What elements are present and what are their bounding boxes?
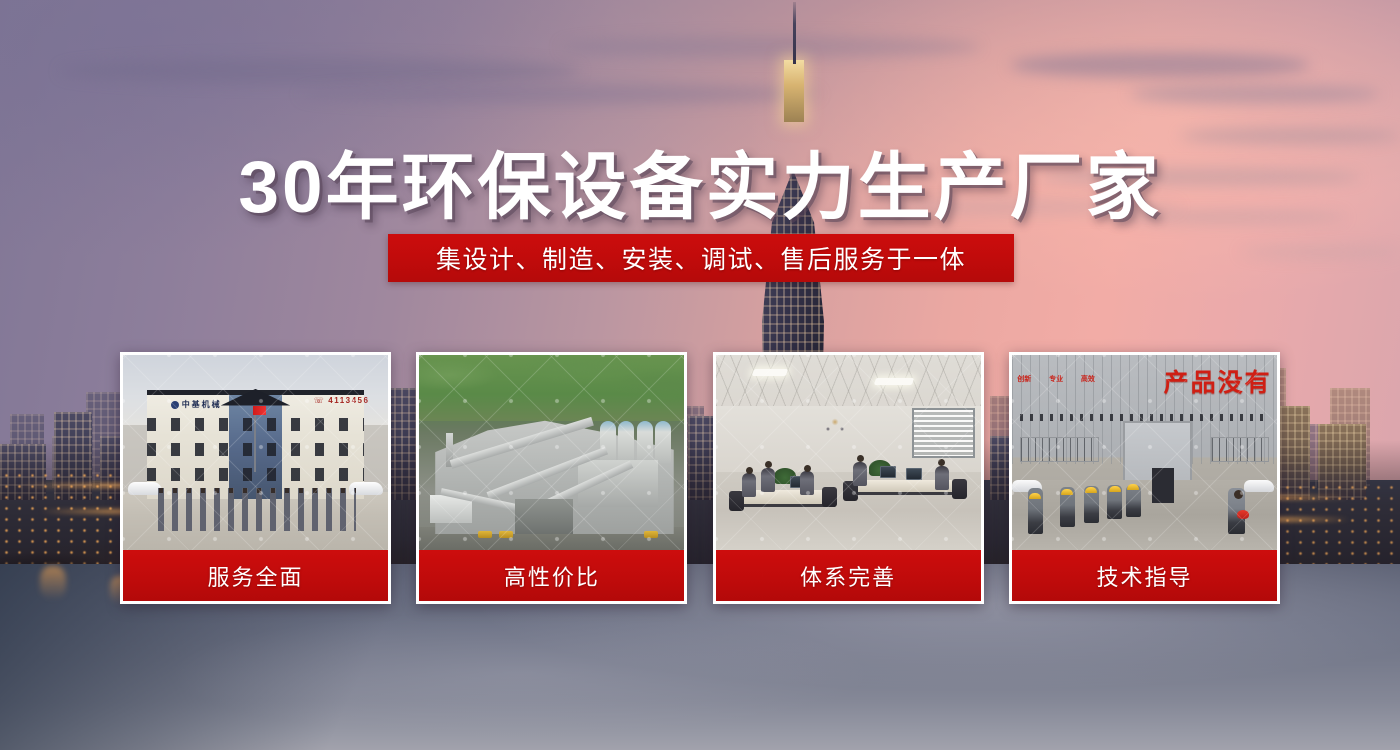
feature-card-caption: 体系完善: [800, 560, 896, 592]
feature-card-caption-bar: 体系完善: [713, 550, 984, 604]
hero-banner: 30年环保设备实力生产厂家 集设计、制造、安装、调试、售后服务于一体 中基机械: [0, 0, 1400, 750]
ceiling-light-icon: [874, 378, 914, 385]
hard-hat-icon: [1061, 489, 1073, 495]
factory-slogan-small-2: 专业: [1049, 375, 1063, 384]
feature-card-caption-bar: 服务全面: [120, 550, 391, 604]
hard-hat-icon: [1127, 484, 1139, 490]
building-phone-text: 4113456: [328, 396, 369, 405]
phone-icon: ☏: [314, 396, 326, 405]
feature-card-caption-bar: 高性价比: [416, 550, 687, 604]
building-sign: 中基机械: [171, 396, 261, 414]
feature-card-system[interactable]: 体系完善: [713, 352, 984, 604]
red-hard-hat-icon: [1237, 510, 1249, 519]
tower-crown-light: [784, 60, 804, 122]
company-logo-icon: [171, 401, 179, 409]
feature-card-caption: 服务全面: [207, 560, 303, 592]
flag-icon: [253, 406, 266, 415]
industrial-plant-aerial-photo: [416, 352, 687, 550]
feature-card-service[interactable]: 中基机械 ☏ 4113456 服务全面: [120, 352, 391, 604]
wall-decal-icon: [822, 414, 848, 436]
hard-hat-icon: [1029, 493, 1041, 499]
feature-card-caption: 高性价比: [504, 560, 600, 592]
factory-workers-photo: 创新 专业 高效 产品没有: [1009, 352, 1280, 550]
company-headquarters-photo: 中基机械 ☏ 4113456: [120, 352, 391, 550]
banner-subtitle-bar: 集设计、制造、安装、调试、售后服务于一体: [388, 234, 1014, 282]
factory-slogan-small-3: 高效: [1081, 375, 1095, 384]
building-phone: ☏ 4113456: [314, 396, 370, 405]
office-interior-photo: [713, 352, 984, 550]
banner-subtitle-text: 集设计、制造、安装、调试、售后服务于一体: [436, 240, 966, 276]
hard-hat-icon: [1109, 486, 1121, 492]
ceiling-light-icon: [752, 369, 788, 376]
factory-slogan-text: 产品没有: [1164, 363, 1272, 399]
banner-headline: 30年环保设备实力生产厂家: [0, 128, 1400, 234]
tower-antenna: [793, 2, 796, 64]
feature-card-caption-bar: 技术指导: [1009, 550, 1280, 604]
hard-hat-icon: [1085, 487, 1097, 493]
feature-card-caption: 技术指导: [1096, 560, 1192, 592]
feature-card-row: 中基机械 ☏ 4113456 服务全面: [120, 352, 1280, 604]
feature-card-training[interactable]: 创新 专业 高效 产品没有: [1009, 352, 1280, 604]
factory-slogan-small-1: 创新: [1017, 375, 1031, 384]
feature-card-value[interactable]: 高性价比: [416, 352, 687, 604]
building-sign-text: 中基机械: [182, 399, 222, 410]
